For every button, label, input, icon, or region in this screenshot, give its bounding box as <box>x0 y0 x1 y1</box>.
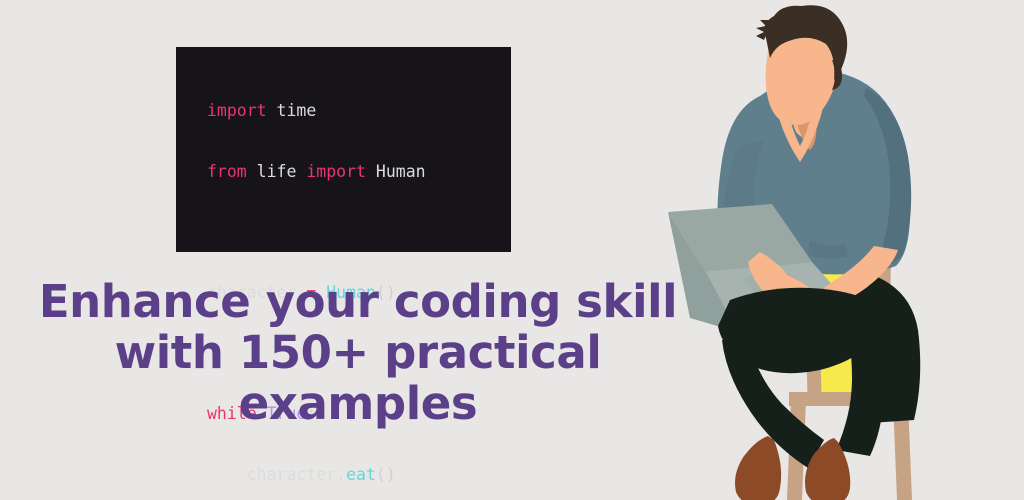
code-token-module-life: life <box>247 162 307 181</box>
front-leg <box>718 288 884 468</box>
headline-line-2: with 150+ practical <box>8 327 708 378</box>
code-token-module-time: time <box>267 101 317 120</box>
code-token-keyword-import: import <box>207 101 267 120</box>
code-line-1: import time <box>207 101 511 121</box>
code-token-obj-character-eat: character. <box>207 465 346 484</box>
code-token-method-eat: eat <box>346 465 376 484</box>
code-token-parens-2: () <box>376 465 396 484</box>
code-line-3-blank <box>207 223 511 243</box>
code-line-7: character.eat() <box>207 465 511 485</box>
person-with-laptop-illustration <box>660 0 1024 500</box>
headline-line-3: examples <box>8 378 708 429</box>
headline: Enhance your coding skill with 150+ prac… <box>8 276 708 429</box>
code-snippet-card: import time from life import Human chara… <box>176 47 511 252</box>
code-line-2: from life import Human <box>207 162 511 182</box>
code-token-keyword-from: from <box>207 162 247 181</box>
promo-banner: import time from life import Human chara… <box>0 0 1024 500</box>
headline-line-1: Enhance your coding skill <box>8 276 708 327</box>
code-token-name-human: Human <box>366 162 426 181</box>
code-token-keyword-import-2: import <box>306 162 366 181</box>
